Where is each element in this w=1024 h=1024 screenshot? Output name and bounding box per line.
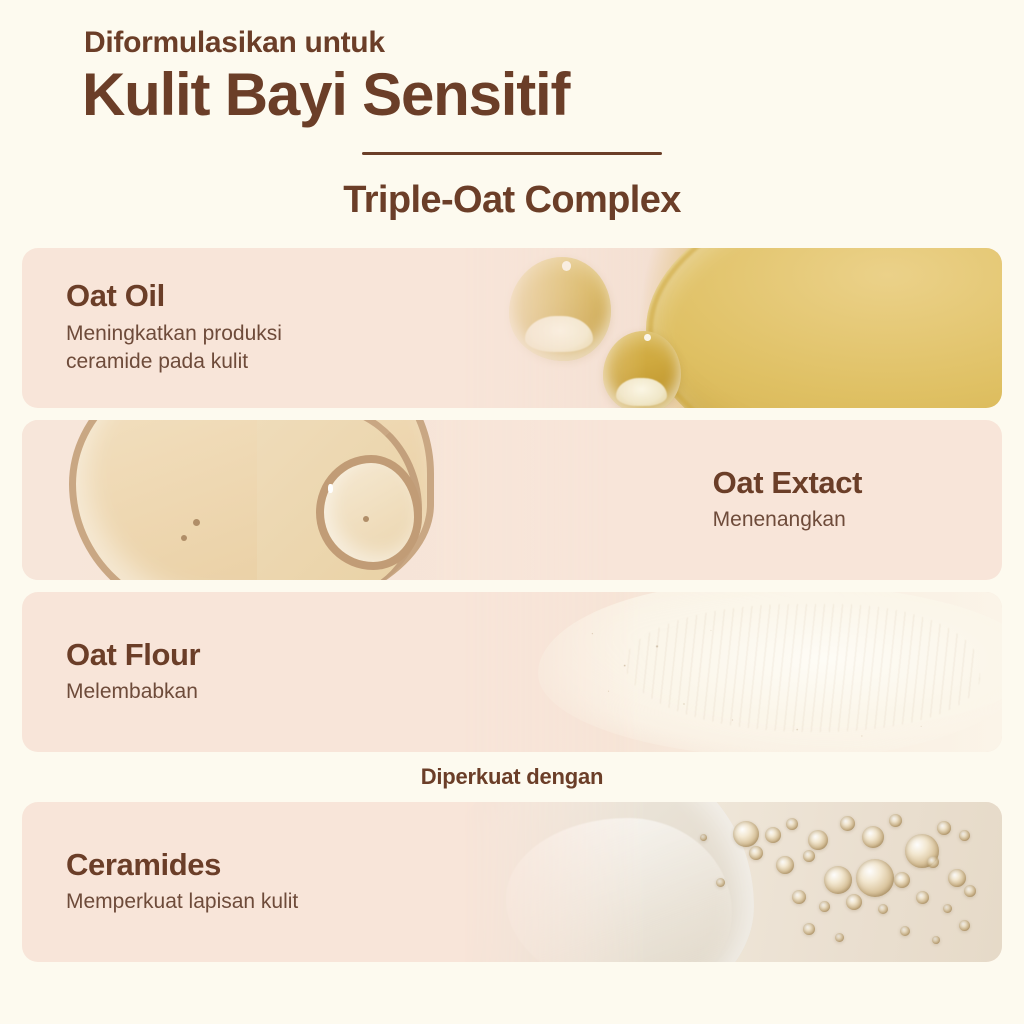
header-divider	[362, 152, 662, 155]
ceramides-bubbles-gel-image	[463, 802, 1002, 962]
oat-flour-powder-image	[463, 592, 1002, 752]
ingredient-card-oat-oil: Oat Oil Meningkatkan produksi ceramide p…	[22, 248, 1002, 408]
ingredient-description: Menenangkan	[713, 506, 846, 534]
ingredient-title: Oat Flour	[66, 637, 200, 673]
ingredient-description: Melembabkan	[66, 678, 198, 706]
header-eyebrow: Diformulasikan untuk	[84, 26, 1024, 61]
ingredient-title: Oat Extact	[713, 465, 862, 501]
ingredient-description: Memperkuat lapisan kulit	[66, 888, 298, 916]
ingredient-card-oat-flour: Oat Flour Melembabkan	[22, 592, 1002, 752]
oat-oil-droplets-image	[463, 248, 1002, 408]
page-title: Kulit Bayi Sensitif	[82, 63, 1024, 126]
infographic-page: Diformulasikan untuk Kulit Bayi Sensitif…	[0, 0, 1024, 1024]
reinforced-with-label: Diperkuat dengan	[0, 764, 1024, 790]
ingredient-description: Meningkatkan produksi ceramide pada kuli…	[66, 320, 282, 377]
header: Diformulasikan untuk Kulit Bayi Sensitif…	[0, 0, 1024, 222]
section-subtitle: Triple-Oat Complex	[0, 179, 1024, 222]
ingredient-card-oat-extract: Oat Extact Menenangkan	[22, 420, 1002, 580]
ingredient-title: Oat Oil	[66, 278, 165, 314]
ingredient-title: Ceramides	[66, 847, 221, 883]
ingredient-card-ceramides: Ceramides Memperkuat lapisan kulit	[22, 802, 1002, 962]
ingredient-card-list: Oat Oil Meningkatkan produksi ceramide p…	[0, 248, 1024, 752]
oat-extract-liquid-image	[22, 420, 610, 580]
